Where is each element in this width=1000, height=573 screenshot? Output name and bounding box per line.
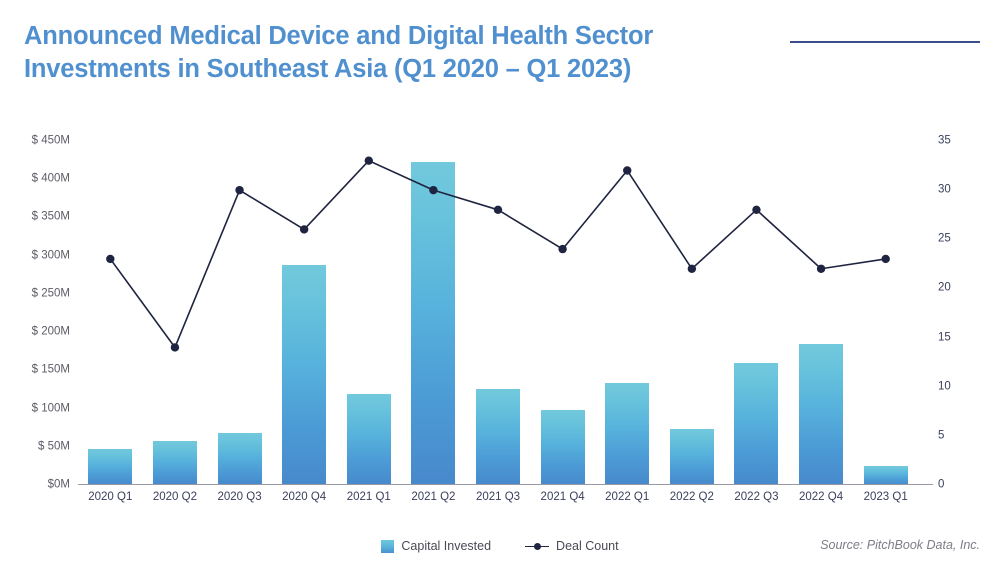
y-axis-left-tick: $ 300M	[0, 250, 70, 262]
bar-capital-invested[interactable]	[864, 466, 908, 485]
bar-capital-invested[interactable]	[282, 265, 326, 485]
y-axis-right: 35302520151050	[938, 131, 998, 495]
y-axis-left-tick: $ 150M	[0, 365, 70, 377]
bar-column[interactable]	[78, 141, 143, 485]
legend-item-deal-count[interactable]: Deal Count	[525, 540, 619, 553]
bar-capital-invested[interactable]	[88, 449, 132, 485]
title-rule-decoration	[790, 41, 980, 43]
bar-column[interactable]	[207, 141, 272, 485]
y-axis-right-tick: 15	[938, 332, 984, 344]
line-marker-icon	[525, 540, 549, 553]
chart-header: Announced Medical Device and Digital Hea…	[0, 0, 1000, 105]
bar-capital-invested[interactable]	[541, 410, 585, 485]
bar-column[interactable]	[143, 141, 208, 485]
x-axis-tick: 2020 Q2	[153, 492, 197, 504]
legend-label-deal-count: Deal Count	[556, 540, 619, 553]
bar-capital-invested[interactable]	[218, 433, 262, 485]
bar-capital-invested[interactable]	[153, 441, 197, 485]
bar-capital-invested[interactable]	[734, 363, 778, 485]
x-axis-tick: 2022 Q4	[799, 492, 843, 504]
page-title: Announced Medical Device and Digital Hea…	[24, 20, 794, 86]
y-axis-left-tick: $ 50M	[0, 441, 70, 453]
legend-label-capital-invested: Capital Invested	[401, 540, 491, 553]
bar-swatch-icon	[381, 540, 394, 553]
bar-column[interactable]	[336, 141, 401, 485]
plot-area-bars	[78, 141, 918, 485]
bar-column[interactable]	[466, 141, 531, 485]
x-axis: 2020 Q12020 Q22020 Q32020 Q42021 Q12021 …	[78, 489, 918, 513]
y-axis-right-tick: 0	[938, 479, 984, 491]
x-axis-tick: 2021 Q2	[411, 492, 455, 504]
x-axis-tick: 2021 Q3	[476, 492, 520, 504]
x-axis-tick: 2022 Q2	[670, 492, 714, 504]
y-axis-left-tick: $ 200M	[0, 326, 70, 338]
bar-column[interactable]	[530, 141, 595, 485]
bar-column[interactable]	[789, 141, 854, 485]
y-axis-right-tick: 5	[938, 430, 984, 442]
bar-capital-invested[interactable]	[411, 162, 455, 485]
x-axis-tick: 2020 Q1	[88, 492, 132, 504]
y-axis-right-tick: 30	[938, 184, 984, 196]
x-axis-baseline	[78, 484, 933, 485]
x-axis-tick: 2022 Q1	[605, 492, 649, 504]
bar-capital-invested[interactable]	[347, 394, 391, 485]
source-attribution: Source: PitchBook Data, Inc.	[820, 538, 980, 552]
x-axis-tick: 2022 Q3	[734, 492, 778, 504]
bar-column[interactable]	[853, 141, 918, 485]
legend-item-capital-invested[interactable]: Capital Invested	[381, 540, 491, 553]
x-axis-tick: 2021 Q4	[541, 492, 585, 504]
bar-column[interactable]	[272, 141, 337, 485]
bar-column[interactable]	[401, 141, 466, 485]
y-axis-left: $ 450M$ 400M$ 350M$ 300M$ 250M$ 200M$ 15…	[0, 131, 70, 495]
bar-column[interactable]	[660, 141, 725, 485]
bar-capital-invested[interactable]	[799, 344, 843, 485]
bar-column[interactable]	[595, 141, 660, 485]
x-axis-tick: 2021 Q1	[347, 492, 391, 504]
bar-capital-invested[interactable]	[605, 383, 649, 485]
y-axis-right-tick: 25	[938, 234, 984, 246]
x-axis-tick: 2020 Q4	[282, 492, 326, 504]
y-axis-left-tick: $ 250M	[0, 288, 70, 300]
y-axis-left-tick: $ 350M	[0, 212, 70, 224]
y-axis-left-tick: $0M	[0, 479, 70, 491]
x-axis-tick: 2023 Q1	[864, 492, 908, 504]
bar-capital-invested[interactable]	[670, 429, 714, 485]
y-axis-right-tick: 10	[938, 381, 984, 393]
y-axis-left-tick: $ 100M	[0, 403, 70, 415]
y-axis-right-tick: 20	[938, 283, 984, 295]
y-axis-right-tick: 35	[938, 135, 984, 147]
y-axis-left-tick: $ 450M	[0, 135, 70, 147]
bar-column[interactable]	[724, 141, 789, 485]
x-axis-tick: 2020 Q3	[217, 492, 261, 504]
bar-capital-invested[interactable]	[476, 389, 520, 485]
y-axis-left-tick: $ 400M	[0, 173, 70, 185]
